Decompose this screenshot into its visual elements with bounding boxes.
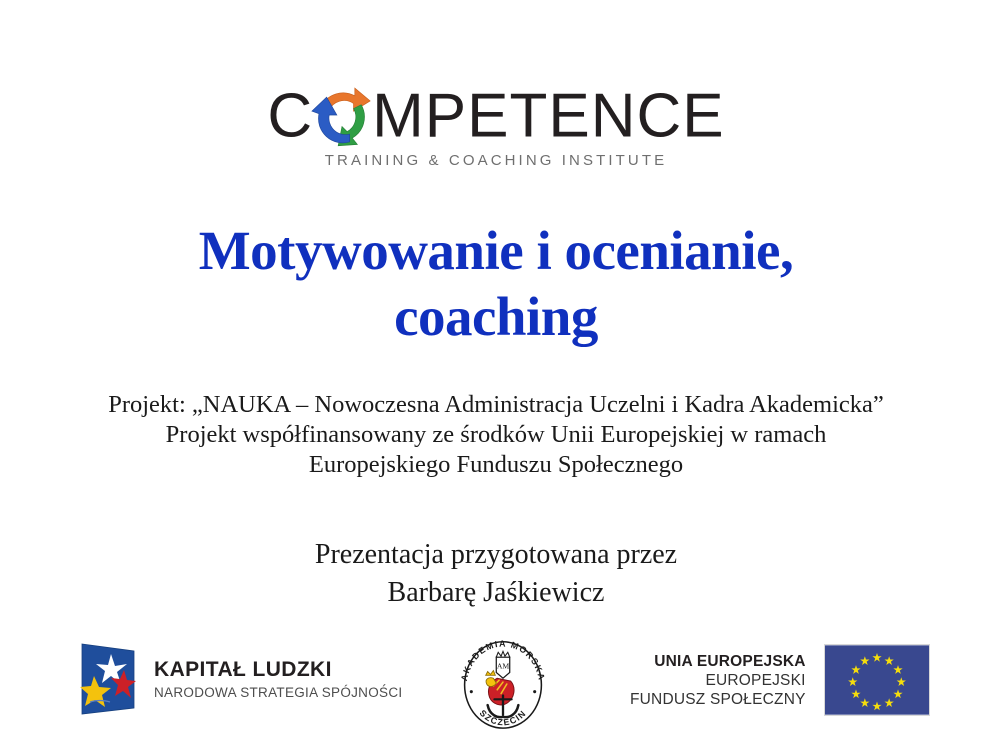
eu-line-2: EUROPEJSKI xyxy=(630,671,806,690)
project-info-line-3: Europejskiego Funduszu Społecznego xyxy=(46,450,946,480)
presentation-slide: C MPETENCE TRAINING & COACHING INSTITUTE… xyxy=(0,0,992,744)
eu-line-3: FUNDUSZ SPOŁECZNY xyxy=(630,690,806,709)
project-info-line-1: Projekt: „NAUKA – Nowoczesna Administrac… xyxy=(46,390,946,420)
competence-wordmark: C MPETENCE xyxy=(267,82,724,150)
slide-title-line-2: coaching xyxy=(60,284,932,350)
unia-europejska-logo: UNIA EUROPEJSKA EUROPEJSKI FUNDUSZ SPOŁE… xyxy=(630,644,930,716)
kapital-ludzki-subtitle: NARODOWA STRATEGIA SPÓJNOŚCI xyxy=(154,684,402,701)
unia-europejska-text: UNIA EUROPEJSKA EUROPEJSKI FUNDUSZ SPOŁE… xyxy=(630,652,806,709)
akademia-morska-logo: AKADEMIA MORSKA SZCZECIN AM xyxy=(455,636,551,732)
kapital-ludzki-emblem-icon xyxy=(78,640,138,718)
presenter-credit: Prezentacja przygotowana przez Barbarę J… xyxy=(96,536,896,612)
cycle-arrows-icon xyxy=(310,83,374,147)
svg-text:AM: AM xyxy=(497,662,510,671)
kapital-ludzki-logo: KAPITAŁ LUDZKI NARODOWA STRATEGIA SPÓJNO… xyxy=(78,640,402,718)
eu-line-1: UNIA EUROPEJSKA xyxy=(630,652,806,671)
eu-flag-icon xyxy=(824,644,930,716)
project-info: Projekt: „NAUKA – Nowoczesna Administrac… xyxy=(46,390,946,480)
slide-title: Motywowanie i ocenianie, coaching xyxy=(60,218,932,350)
presenter-credit-line-1: Prezentacja przygotowana przez xyxy=(96,536,896,574)
logo-letter-c: C xyxy=(267,81,313,150)
project-info-line-2: Projekt współfinansowany ze środków Unii… xyxy=(46,420,946,450)
logo-letters-mpetence: MPETENCE xyxy=(372,81,724,150)
akademia-morska-seal-icon: AKADEMIA MORSKA SZCZECIN AM xyxy=(455,636,551,732)
kapital-ludzki-text: KAPITAŁ LUDZKI NARODOWA STRATEGIA SPÓJNO… xyxy=(154,658,402,701)
kapital-ludzki-title: KAPITAŁ LUDZKI xyxy=(154,658,402,682)
competence-logo: C MPETENCE TRAINING & COACHING INSTITUTE xyxy=(0,82,992,169)
slide-title-line-1: Motywowanie i ocenianie, xyxy=(60,218,932,284)
footer-logos: KAPITAŁ LUDZKI NARODOWA STRATEGIA SPÓJNO… xyxy=(0,632,992,736)
presenter-name: Barbarę Jaśkiewicz xyxy=(96,574,896,612)
logo-tagline: TRAINING & COACHING INSTITUTE xyxy=(0,152,992,169)
